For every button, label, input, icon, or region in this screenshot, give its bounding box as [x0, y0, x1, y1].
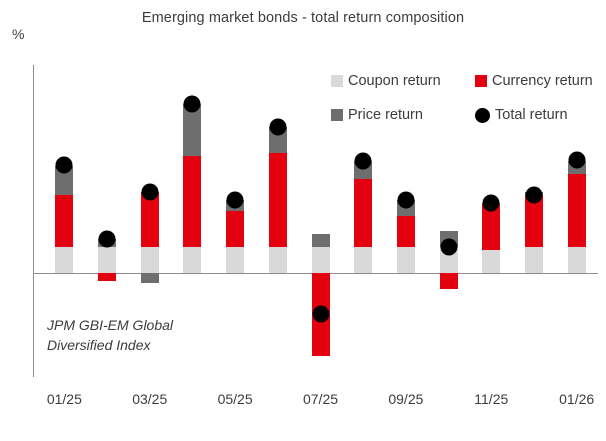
bar-segment-coupon — [141, 247, 159, 273]
square-swatch-icon — [475, 75, 487, 87]
legend-item[interactable]: Coupon return — [331, 73, 441, 89]
legend-item[interactable]: Total return — [475, 107, 568, 123]
x-tick-label: 03/25 — [132, 391, 167, 407]
legend-item[interactable]: Price return — [331, 107, 423, 123]
annotation-line-1: JPM GBI-EM Global — [47, 315, 173, 335]
bar-segment-price — [312, 234, 330, 247]
bar-group[interactable] — [312, 65, 330, 377]
chart-title: Emerging market bonds - total return com… — [0, 10, 606, 26]
total-return-marker — [440, 239, 457, 256]
bar-segment-currency — [568, 174, 586, 247]
bar-segment-coupon — [183, 247, 201, 273]
bar-segment-coupon — [98, 247, 116, 273]
bar-segment-currency — [269, 153, 287, 247]
annotation-line-2: Diversified Index — [47, 335, 173, 355]
bar-segment-coupon — [312, 247, 330, 273]
bar-segment-coupon — [226, 247, 244, 273]
total-return-marker — [483, 194, 500, 211]
total-return-marker — [355, 153, 372, 170]
x-tick-label: 01/25 — [47, 391, 82, 407]
legend-item-label: Total return — [495, 107, 568, 123]
bar-segment-coupon — [482, 250, 500, 273]
total-return-marker — [525, 187, 542, 204]
bar-segment-currency — [440, 273, 458, 289]
bar-segment-price — [141, 273, 159, 283]
bar-segment-currency — [354, 179, 372, 247]
total-return-marker — [568, 151, 585, 168]
total-return-marker — [312, 305, 329, 322]
bar-segment-coupon — [354, 247, 372, 273]
bar-segment-coupon — [269, 247, 287, 273]
x-tick-label: 05/25 — [218, 391, 253, 407]
legend-item[interactable]: Currency return — [475, 73, 593, 89]
x-tick-label: 09/25 — [388, 391, 423, 407]
total-return-marker — [99, 231, 116, 248]
chart-container: Emerging market bonds - total return com… — [0, 0, 606, 441]
total-return-marker — [269, 119, 286, 136]
x-tick-label: 11/25 — [474, 391, 508, 407]
total-return-marker — [184, 96, 201, 113]
total-return-marker — [141, 184, 158, 201]
circle-marker-icon — [475, 108, 490, 123]
y-axis-line — [33, 65, 34, 377]
bar-segment-coupon — [525, 247, 543, 273]
square-swatch-icon — [331, 109, 343, 121]
bar-segment-coupon — [55, 247, 73, 273]
bar-group[interactable] — [269, 65, 287, 377]
bar-segment-currency — [98, 273, 116, 281]
chart-legend: Coupon returnCurrency returnPrice return… — [331, 73, 599, 135]
legend-item-label: Currency return — [492, 73, 593, 89]
square-swatch-icon — [331, 75, 343, 87]
bar-segment-coupon — [397, 247, 415, 273]
bar-segment-currency — [55, 195, 73, 247]
index-annotation: JPM GBI-EM Global Diversified Index — [47, 315, 173, 355]
bar-segment-currency — [226, 211, 244, 247]
bar-segment-coupon — [568, 247, 586, 273]
legend-item-label: Price return — [348, 107, 423, 123]
x-axis-tick-labels: 01/2503/2505/2507/2509/2511/2501/26 — [33, 391, 598, 413]
bar-segment-currency — [183, 156, 201, 247]
x-tick-label: 07/25 — [303, 391, 338, 407]
bar-group[interactable] — [226, 65, 244, 377]
bar-segment-currency — [397, 216, 415, 247]
legend-item-label: Coupon return — [348, 73, 441, 89]
total-return-marker — [56, 156, 73, 173]
bar-segment-currency — [482, 205, 500, 249]
x-tick-label: 01/26 — [559, 391, 594, 407]
y-axis-unit-label: % — [12, 26, 24, 42]
bar-group[interactable] — [183, 65, 201, 377]
total-return-marker — [397, 192, 414, 209]
total-return-marker — [227, 192, 244, 209]
